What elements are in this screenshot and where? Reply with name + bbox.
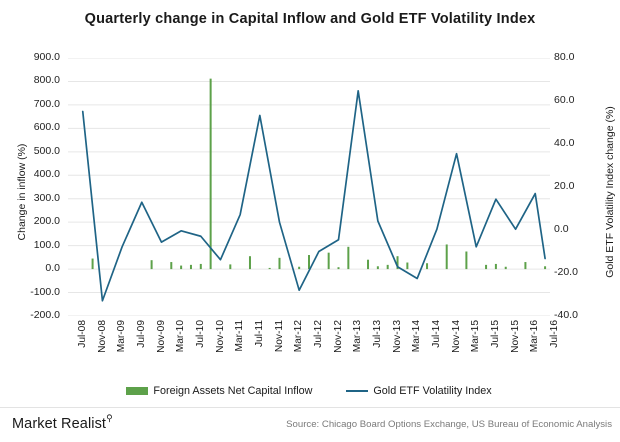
x-axis-tick-label: Mar-15 (470, 320, 481, 352)
bar (495, 264, 497, 269)
magnifier-icon: ⚲ (106, 413, 113, 423)
legend-label-gold-etf-volatility: Gold ETF Volatility Index (373, 385, 491, 397)
y-axis-left-tick-label: 500.0 (4, 146, 60, 157)
bar (328, 253, 330, 269)
bar (190, 265, 192, 269)
x-axis-tick-label: Nov-14 (451, 320, 462, 353)
bar (485, 265, 487, 269)
x-axis-tick-label: Nov-15 (510, 320, 521, 353)
legend-label-foreign-assets: Foreign Assets Net Capital Inflow (153, 385, 312, 397)
bar (308, 255, 310, 269)
x-axis-tick-label: Nov-10 (215, 320, 226, 353)
y-axis-left-tick-label: 700.0 (4, 99, 60, 110)
bar (151, 260, 153, 269)
source-note: Source: Chicago Board Options Exchange, … (286, 419, 612, 430)
bar (505, 267, 507, 269)
chart-title: Quarterly change in Capital Inflow and G… (60, 10, 560, 29)
bar (180, 266, 182, 270)
bar (170, 262, 172, 269)
bar (338, 267, 340, 269)
plot-area (68, 58, 550, 316)
bar (377, 266, 379, 269)
x-axis-tick-label: Jul-10 (195, 320, 206, 348)
y-axis-right-tick-label: 60.0 (554, 95, 600, 106)
bar (269, 268, 271, 269)
bar (200, 264, 202, 269)
gridlines (68, 58, 550, 316)
x-axis-tick-label: Nov-09 (156, 320, 167, 353)
x-axis-tick-label: Jul-14 (431, 320, 442, 348)
x-axis-tick-label: Nov-08 (97, 320, 108, 353)
x-axis-tick-label: Mar-11 (234, 320, 245, 352)
x-axis-tick-label: Mar-12 (293, 320, 304, 352)
x-axis-tick-label: Jul-12 (313, 320, 324, 348)
y-axis-left-tick-label: 300.0 (4, 193, 60, 204)
bar (92, 259, 94, 270)
x-axis-tick-label: Jul-13 (372, 320, 383, 348)
x-axis-tick-label: Mar-09 (116, 320, 127, 352)
x-axis-tick-label: Mar-16 (529, 320, 540, 352)
legend-item-foreign-assets[interactable]: Foreign Assets Net Capital Inflow (126, 385, 312, 397)
bar (367, 260, 369, 269)
brand-logo: Market Realist⚲ (12, 414, 113, 432)
y-axis-right-tick-label: -40.0 (554, 310, 600, 321)
bar (298, 267, 300, 269)
bar (210, 79, 212, 269)
bar (426, 263, 428, 269)
legend-bar-swatch-icon (126, 387, 148, 395)
x-axis-tick-label: Mar-10 (175, 320, 186, 352)
y-axis-right-tick-label: 40.0 (554, 138, 600, 149)
y-axis-left-tick-label: 200.0 (4, 216, 60, 227)
x-axis-tick-label: Nov-12 (333, 320, 344, 353)
x-axis-tick-label: Mar-13 (352, 320, 363, 352)
x-axis-tick-label: Nov-13 (392, 320, 403, 353)
y-axis-left-tick-label: 800.0 (4, 75, 60, 86)
y-axis-left-tick-label: 600.0 (4, 122, 60, 133)
y-axis-left-tick-label: 100.0 (4, 240, 60, 251)
bar (387, 265, 389, 269)
legend-item-gold-etf-volatility[interactable]: Gold ETF Volatility Index (346, 385, 491, 397)
x-axis-tick-label: Jul-09 (136, 320, 147, 348)
brand-name: Market Realist (12, 416, 106, 432)
bar (446, 244, 448, 269)
bar (406, 263, 408, 270)
bar (347, 247, 349, 269)
bar (544, 266, 546, 269)
x-axis-tick-label: Jul-15 (490, 320, 501, 348)
y-axis-right-tick-label: 20.0 (554, 181, 600, 192)
x-axis-tick-label: Jul-11 (254, 320, 265, 347)
x-axis-tick-label: Jul-16 (549, 320, 560, 348)
y-axis-left-tick-label: 400.0 (4, 169, 60, 180)
x-axis-tick-label: Nov-11 (274, 320, 285, 352)
y-axis-right-tick-label: -20.0 (554, 267, 600, 278)
footer-divider (0, 407, 620, 408)
y-axis-right-title: Gold ETF Volatility Index change (%) (604, 102, 616, 282)
bar (229, 264, 231, 269)
y-axis-left-tick-label: 900.0 (4, 52, 60, 63)
chart-container: Quarterly change in Capital Inflow and G… (0, 0, 620, 442)
chart-plot-svg (68, 58, 550, 316)
bar (278, 258, 280, 269)
y-axis-right-tick-label: 80.0 (554, 52, 600, 63)
chart-legend: Foreign Assets Net Capital Inflow Gold E… (68, 385, 550, 397)
x-axis-tick-label: Jul-08 (77, 320, 88, 348)
legend-line-swatch-icon (346, 390, 368, 392)
y-axis-right-tick-label: 0.0 (554, 224, 600, 235)
bar (249, 256, 251, 269)
y-axis-left-tick-label: -200.0 (4, 310, 60, 321)
bar (465, 252, 467, 270)
y-axis-left-tick-label: 0.0 (4, 263, 60, 274)
x-axis-tick-label: Mar-14 (411, 320, 422, 352)
bar (524, 262, 526, 269)
y-axis-left-tick-label: -100.0 (4, 287, 60, 298)
